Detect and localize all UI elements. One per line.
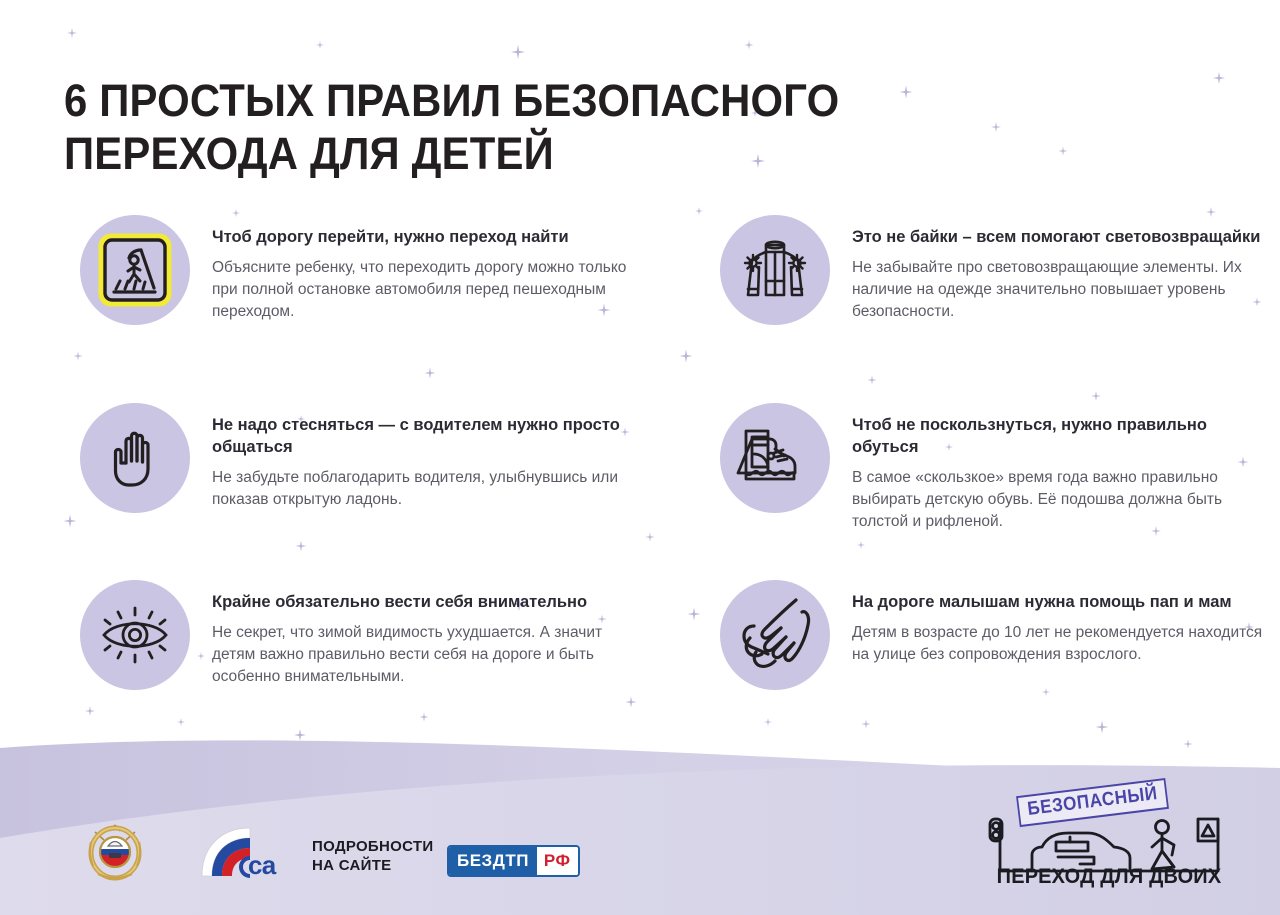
rule-body-5: Не секрет, что зимой видимость ухудшаетс… <box>212 622 640 688</box>
sparkle-icon <box>688 608 701 621</box>
rule-text-2: Это не байки – всем помогают световозвра… <box>852 215 1265 323</box>
campaign-caption: ПЕРЕХОД ДЛЯ ДВОИХ <box>990 865 1228 889</box>
site-note-line1: ПОДРОБНОСТИ <box>312 838 433 856</box>
pedestrian-crossing-sign-icon <box>80 215 190 325</box>
sparkle-icon <box>1059 147 1068 156</box>
sparkle-icon <box>67 28 77 38</box>
sparkle-icon <box>680 350 693 363</box>
sparkle-icon <box>64 515 77 528</box>
page-title-line2: ПЕРЕХОДА ДЛЯ ДЕТЕЙ <box>64 127 827 180</box>
rule-heading-6: На дороге малышам нужна помощь пап и мам <box>852 592 1265 614</box>
sparkle-icon <box>991 122 1001 132</box>
holding-hands-icon <box>720 580 830 690</box>
page-title: 6 ПРОСТЫХ ПРАВИЛ БЕЗОПАСНОГО ПЕРЕХОДА ДЛ… <box>64 74 827 180</box>
rule-item-6: На дороге малышам нужна помощь пап и мам… <box>720 580 1265 690</box>
sparkle-icon <box>1213 72 1225 84</box>
sparkle-icon <box>296 541 307 552</box>
bezdtp-badge-name: БЕЗДТП <box>449 847 537 875</box>
rule-heading-1: Чтоб дорогу перейти, нужно переход найти <box>212 227 640 249</box>
sparkle-icon <box>74 352 83 361</box>
rule-heading-3: Не надо стесняться — с водителем нужно п… <box>212 415 640 459</box>
rule-item-3: Не надо стесняться — с водителем нужно п… <box>80 403 640 513</box>
page-title-line1: 6 ПРОСТЫХ ПРАВИЛ БЕЗОПАСНОГО <box>64 74 827 127</box>
rule-item-2: Это не байки – всем помогают световозвра… <box>720 215 1265 325</box>
rule-text-5: Крайне обязательно вести себя внимательн… <box>212 580 640 688</box>
gibdd-emblem-icon <box>84 820 146 887</box>
rule-heading-5: Крайне обязательно вести себя внимательн… <box>212 592 640 614</box>
rule-body-3: Не забудьте поблагодарить водителя, улыб… <box>212 467 640 511</box>
rule-heading-4: Чтоб не поскользнуться, нужно правильно … <box>852 415 1265 459</box>
sparkle-icon <box>1091 391 1101 401</box>
sparkle-icon <box>900 86 913 99</box>
rule-text-3: Не надо стесняться — с водителем нужно п… <box>212 403 640 511</box>
footer-content: са ПОДРОБНОСТИ НА САЙТЕ БЕЗДТП РФ <box>0 795 1280 915</box>
sparkle-icon <box>745 41 754 50</box>
sparkle-icon <box>695 207 703 215</box>
rule-body-6: Детям в возрасте до 10 лет не рекомендуе… <box>852 622 1265 666</box>
rsa-logo-icon: са <box>196 824 292 885</box>
rule-text-6: На дороге малышам нужна помощь пап и мам… <box>852 580 1265 666</box>
sparkle-icon <box>626 697 637 708</box>
reflective-jacket-icon <box>720 215 830 325</box>
winter-boot-icon <box>720 403 830 513</box>
sparkle-icon <box>857 541 865 549</box>
sparkle-icon <box>646 533 655 542</box>
sparkle-icon <box>511 45 525 59</box>
open-palm-hand-icon <box>80 403 190 513</box>
sparkle-icon <box>425 368 436 379</box>
watching-eye-icon <box>80 580 190 690</box>
bezdtp-badge[interactable]: БЕЗДТП РФ <box>447 845 580 877</box>
rule-body-4: В самое «скользкое» время года важно пра… <box>852 467 1265 533</box>
sparkle-icon <box>316 41 324 49</box>
rule-item-5: Крайне обязательно вести себя внимательн… <box>80 580 640 690</box>
rule-item-4: Чтоб не поскользнуться, нужно правильно … <box>720 403 1265 533</box>
rule-item-1: Чтоб дорогу перейти, нужно переход найти… <box>80 215 640 325</box>
rule-body-2: Не забывайте про световозвращающие элеме… <box>852 257 1265 323</box>
rule-text-4: Чтоб не поскользнуться, нужно правильно … <box>852 403 1265 533</box>
sparkle-icon <box>85 706 95 716</box>
rule-heading-2: Это не байки – всем помогают световозвра… <box>852 227 1265 249</box>
footer: са ПОДРОБНОСТИ НА САЙТЕ БЕЗДТП РФ <box>0 720 1280 915</box>
sparkle-icon <box>868 376 877 385</box>
rule-text-1: Чтоб дорогу перейти, нужно переход найти… <box>212 215 640 323</box>
site-note: ПОДРОБНОСТИ НА САЙТЕ <box>312 838 433 875</box>
svg-text:са: са <box>248 850 277 880</box>
site-note-line2: НА САЙТЕ <box>312 857 433 875</box>
bezdtp-badge-zone: РФ <box>537 847 578 875</box>
infographic-poster: 6 ПРОСТЫХ ПРАВИЛ БЕЗОПАСНОГО ПЕРЕХОДА ДЛ… <box>0 0 1280 915</box>
rule-body-1: Объясните ребенку, что переходить дорогу… <box>212 257 640 323</box>
